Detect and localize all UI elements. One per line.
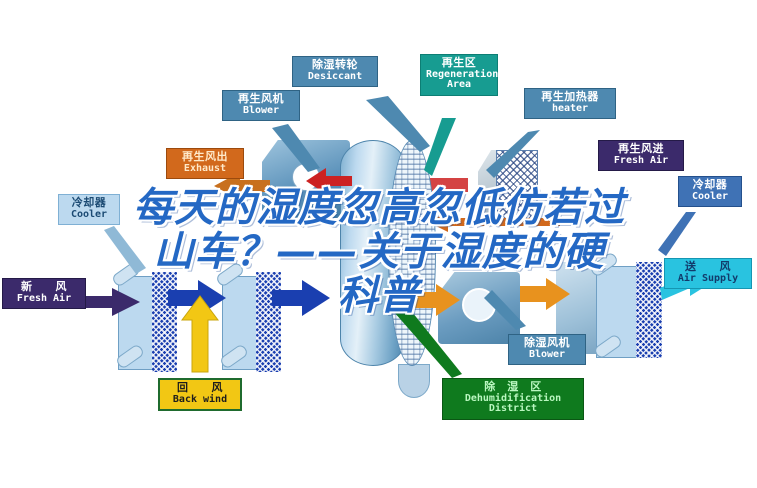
label-cooler-right-cn: 冷却器 xyxy=(684,180,736,192)
label-exhaust-en: Exhaust xyxy=(172,164,238,175)
label-fresh-air-cn: 新 风 xyxy=(8,282,80,294)
label-back-wind-cn: 回 风 xyxy=(165,383,235,395)
label-regeneration-heater-en: heater xyxy=(530,104,610,115)
rotor-shadow xyxy=(398,364,430,398)
headline-line-3: 科普 xyxy=(338,273,420,319)
label-regeneration-area: 再生区 Regeneration Area xyxy=(420,54,498,96)
label-back-wind-en: Back wind xyxy=(165,395,235,406)
label-regeneration-blower: 再生风机 Blower xyxy=(222,90,300,121)
label-fresh-air: 新 风 Fresh Air xyxy=(2,278,86,309)
headline-line-1: 每天的湿度忽高忽低仿若过 xyxy=(133,185,625,231)
label-air-supply-cn: 送 风 xyxy=(670,262,746,274)
label-back-wind: 回 风 Back wind xyxy=(158,378,242,411)
label-dehumidification-area-en: Dehumidification District xyxy=(448,394,578,415)
label-regeneration-fresh-air-en: Fresh Air xyxy=(604,156,678,167)
label-dehumidify-blower-en: Blower xyxy=(514,350,580,361)
label-air-supply: 送 风 Air Supply xyxy=(664,258,752,289)
label-regeneration-area-en: Regeneration Area xyxy=(426,70,492,91)
label-dehumidification-area: 除 湿 区 Dehumidification District xyxy=(442,378,584,420)
label-exhaust: 再生风出 Exhaust xyxy=(166,148,244,179)
label-regeneration-blower-en: Blower xyxy=(228,106,294,117)
label-exhaust-cn: 再生风出 xyxy=(172,152,238,164)
label-regeneration-heater: 再生加热器 heater xyxy=(524,88,616,119)
leader-regen-area xyxy=(424,118,456,176)
label-cooler-right-en: Cooler xyxy=(684,192,736,203)
label-cooler-right: 冷却器 Cooler xyxy=(678,176,742,207)
label-regeneration-fresh-air: 再生风进 Fresh Air xyxy=(598,140,684,171)
headline-overlay: 每天的湿度忽高忽低仿若过 山车？——关于湿度的硬 科普 xyxy=(96,186,662,318)
label-desiccant-wheel: 除湿转轮 Desiccant xyxy=(292,56,378,87)
label-regeneration-area-cn: 再生区 xyxy=(426,58,492,70)
label-regeneration-fresh-air-cn: 再生风进 xyxy=(604,144,678,156)
dehumidifier-diagram: 除湿转轮 Desiccant 再生风机 Blower 再生区 Regenerat… xyxy=(0,0,757,488)
label-air-supply-en: Air Supply xyxy=(670,274,746,285)
headline-line-2: 山车？——关于湿度的硬 xyxy=(154,229,605,275)
label-regeneration-heater-cn: 再生加热器 xyxy=(530,92,610,104)
label-regeneration-blower-cn: 再生风机 xyxy=(228,94,294,106)
label-dehumidify-blower-cn: 除湿风机 xyxy=(514,338,580,350)
label-dehumidify-blower: 除湿风机 Blower xyxy=(508,334,586,365)
leader-cooler-right xyxy=(658,212,696,256)
label-fresh-air-en: Fresh Air xyxy=(8,294,80,305)
label-desiccant-wheel-cn: 除湿转轮 xyxy=(298,60,372,72)
label-dehumidification-area-cn: 除 湿 区 xyxy=(448,382,578,394)
label-desiccant-wheel-en: Desiccant xyxy=(298,72,372,83)
